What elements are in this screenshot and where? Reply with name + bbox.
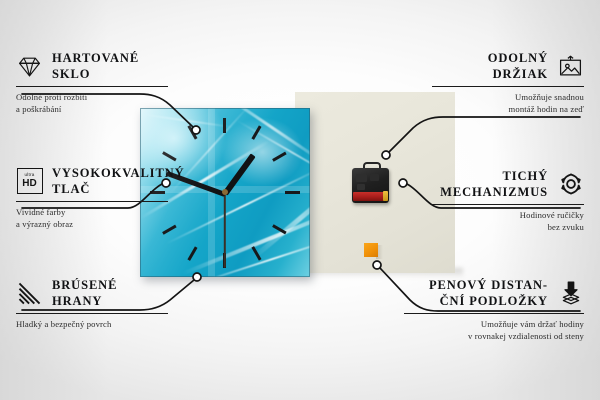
battery (353, 192, 386, 201)
feature-durable-holder: ODOLNÝ DRŽIAK Umožňuje snadnou montáž ho… (384, 50, 584, 115)
feature-title: TICHÝ MECHANIZMUS (440, 168, 548, 200)
feature-title: HARTOVANÉ SKLO (52, 50, 139, 82)
feature-header: TICHÝ MECHANIZMUS (384, 168, 584, 200)
feature-desc-line2: montáž hodin na zeď (384, 103, 584, 115)
feature-desc-line1: Odolné proti rozbití (16, 91, 216, 103)
feature-divider (432, 204, 584, 205)
movement-detail-a (356, 174, 367, 182)
feature-title-line2: TLAČ (52, 181, 185, 197)
feature-title: ODOLNÝ DRŽIAK (488, 50, 548, 82)
feature-description: Hodinové ručičky bez zvuku (384, 209, 584, 233)
feature-high-quality-print: ultra HD VYSOKOKVALITNÝ TLAČ Vividné far… (16, 165, 216, 230)
feature-divider (16, 201, 168, 202)
feature-title-line2: SKLO (52, 66, 139, 82)
feature-desc-line1: Vividné farby (16, 206, 216, 218)
feature-foam-spacers: PENOVÝ DISTAN- ČNÍ PODLOŽKY Umožňuje vám… (384, 277, 584, 342)
feature-tempered-glass: HARTOVANÉ SKLO Odolné proti rozbití a po… (16, 50, 216, 115)
feature-title-line1: TICHÝ (440, 168, 548, 184)
clock-second-hand (224, 193, 226, 267)
feature-header: ultra HD VYSOKOKVALITNÝ TLAČ (16, 165, 216, 197)
feature-title-line2: DRŽIAK (488, 66, 548, 82)
feature-description: Umožňuje vám držať hodiny v rovnakej vzd… (384, 318, 584, 342)
gear-icon (557, 171, 584, 198)
feature-title-line1: ODOLNÝ (488, 50, 548, 66)
feature-description: Hladký a bezpečný povrch (16, 318, 216, 330)
feature-polished-edges: BRÚSENÉ HRANY Hladký a bezpečný povrch (16, 277, 216, 330)
feature-title: PENOVÝ DISTAN- ČNÍ PODLOŽKY (429, 277, 548, 309)
ultra-hd-badge: ultra HD (17, 168, 43, 194)
movement-detail-b (370, 174, 379, 181)
ultra-hd-icon: ultra HD (16, 168, 43, 195)
foam-spacer-pad (364, 243, 378, 257)
feature-title-line2: MECHANIZMUS (440, 184, 548, 200)
product-infographic: HARTOVANÉ SKLO Odolné proti rozbití a po… (0, 0, 600, 400)
feature-desc-line2: v rovnakej vzdialenosti od steny (384, 330, 584, 342)
feature-description: Odolné proti rozbití a poškrábání (16, 91, 216, 115)
feature-divider (404, 313, 584, 314)
feature-title-line2: ČNÍ PODLOŽKY (429, 293, 548, 309)
download-stack-icon (557, 280, 584, 307)
feature-title-line1: VYSOKOKVALITNÝ (52, 165, 185, 181)
feature-description: Vividné farby a výrazný obraz (16, 206, 216, 230)
ultra-hd-main-label: HD (22, 179, 36, 189)
feature-divider (16, 86, 168, 87)
clock-tick-12 (223, 118, 226, 133)
clock-hands-cap (222, 189, 228, 195)
feature-silent-mechanism: TICHÝ MECHANIZMUS Hodinové ručičky bez z… (384, 168, 584, 233)
feature-title: BRÚSENÉ HRANY (52, 277, 117, 309)
feature-desc-line2: bez zvuku (384, 221, 584, 233)
feature-desc-line2: a výrazný obraz (16, 218, 216, 230)
feature-divider (16, 313, 168, 314)
diagonal-stripes-icon (16, 280, 43, 307)
movement-detail-c (357, 184, 365, 190)
diamond-icon (16, 53, 43, 80)
feature-title-line1: HARTOVANÉ (52, 50, 139, 66)
picture-frame-icon (557, 53, 584, 80)
feature-header: BRÚSENÉ HRANY (16, 277, 216, 309)
feature-title: VYSOKOKVALITNÝ TLAČ (52, 165, 185, 197)
feature-header: HARTOVANÉ SKLO (16, 50, 216, 82)
feature-desc-line1: Umožňuje snadnou (384, 91, 584, 103)
feature-header: ODOLNÝ DRŽIAK (384, 50, 584, 82)
feature-desc-line1: Umožňuje vám držať hodiny (384, 318, 584, 330)
feature-divider (432, 86, 584, 87)
feature-title-line1: BRÚSENÉ (52, 277, 117, 293)
clock-tick-3 (285, 191, 300, 194)
feature-header: PENOVÝ DISTAN- ČNÍ PODLOŽKY (384, 277, 584, 309)
feature-desc-line2: a poškrábání (16, 103, 216, 115)
feature-title-line1: PENOVÝ DISTAN- (429, 277, 548, 293)
feature-desc-line1: Hodinové ručičky (384, 209, 584, 221)
feature-title-line2: HRANY (52, 293, 117, 309)
feature-description: Umožňuje snadnou montáž hodin na zeď (384, 91, 584, 115)
feature-desc-line1: Hladký a bezpečný povrch (16, 318, 216, 330)
